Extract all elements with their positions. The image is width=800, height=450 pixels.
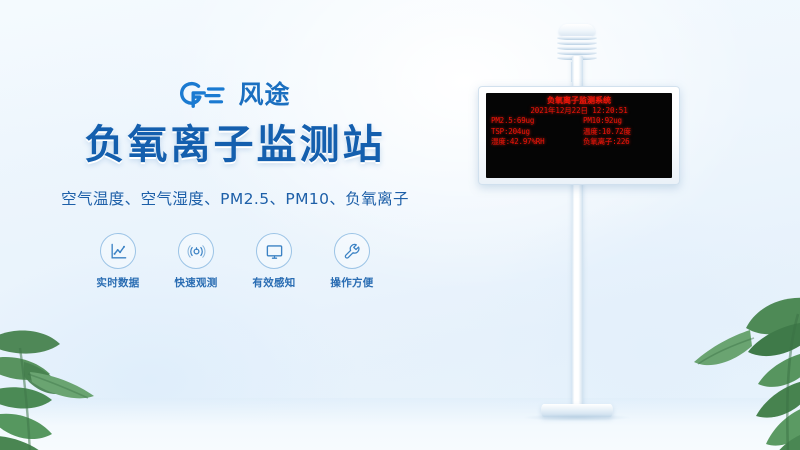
feature-icon-circle <box>100 233 136 269</box>
page-subtitle: 空气温度、空气湿度、PM2.5、PM10、负氧离子 <box>0 187 470 209</box>
shield-fin <box>557 41 597 45</box>
led-reading-temperature: 温度:10.72度 <box>579 127 667 138</box>
wind-g-logo-icon <box>179 81 231 109</box>
wrench-icon <box>343 242 362 261</box>
led-reading-row: 湿度:42.97%RH 负氧离子:226 <box>491 137 667 148</box>
led-display-panel: 负氧离子监测系统 2021年12月22日 12:20:51 PM2.5:69ug… <box>478 86 680 185</box>
led-reading-row: PM2.5:69ug PM10:92ug <box>491 116 667 127</box>
feature-item-fast-observation[interactable]: 快速观测 <box>168 233 224 290</box>
feature-label: 快速观测 <box>168 275 224 290</box>
line-chart-icon <box>109 242 128 261</box>
feature-label: 实时数据 <box>90 275 146 290</box>
shield-fin <box>557 56 597 60</box>
shield-cap <box>559 24 595 35</box>
radiation-shield-sensor-icon <box>552 24 602 68</box>
led-reading-row: TSP:204ug 温度:10.72度 <box>491 127 667 138</box>
feature-list: 实时数据 快速观测 <box>0 233 470 290</box>
brand-name: 风途 <box>238 81 290 109</box>
led-reading-pm25: PM2.5:69ug <box>491 116 579 127</box>
green-leaf-plant-icon <box>688 294 800 450</box>
shield-fin <box>557 46 597 50</box>
promo-banner-stage: 风途 负氧离子监测站 空气温度、空气湿度、PM2.5、PM10、负氧离子 实时数… <box>0 0 800 450</box>
shield-fin <box>557 36 597 40</box>
feature-icon-circle <box>178 233 214 269</box>
feature-item-realtime-data[interactable]: 实时数据 <box>90 233 146 290</box>
feature-item-easy-operation[interactable]: 操作方便 <box>324 233 380 290</box>
page-title: 负氧离子监测站 <box>0 120 470 170</box>
green-leaf-plant-icon <box>0 314 129 450</box>
feature-label: 操作方便 <box>324 275 380 290</box>
led-title: 负氧离子监测系统 <box>491 96 667 106</box>
led-reading-humidity: 湿度:42.97%RH <box>491 137 579 148</box>
hero-text-panel: 风途 负氧离子监测站 空气温度、空气湿度、PM2.5、PM10、负氧离子 实时数… <box>0 78 470 290</box>
radar-scan-icon <box>187 242 206 261</box>
feature-item-effective-sensing[interactable]: 有效感知 <box>246 233 302 290</box>
led-datetime: 2021年12月22日 12:20:51 <box>491 106 667 116</box>
monitor-screen-icon <box>265 242 284 261</box>
led-reading-tsp: TSP:204ug <box>491 127 579 138</box>
led-reading-negative-ion: 负氧离子:226 <box>579 137 667 148</box>
brand-logo: 风途 <box>0 78 470 112</box>
feature-icon-circle <box>334 233 370 269</box>
shield-stem <box>571 62 583 82</box>
feature-icon-circle <box>256 233 292 269</box>
led-screen: 负氧离子监测系统 2021年12月22日 12:20:51 PM2.5:69ug… <box>486 93 672 178</box>
shield-fin <box>557 51 597 55</box>
feature-label: 有效感知 <box>246 275 302 290</box>
led-reading-pm10: PM10:92ug <box>579 116 667 127</box>
